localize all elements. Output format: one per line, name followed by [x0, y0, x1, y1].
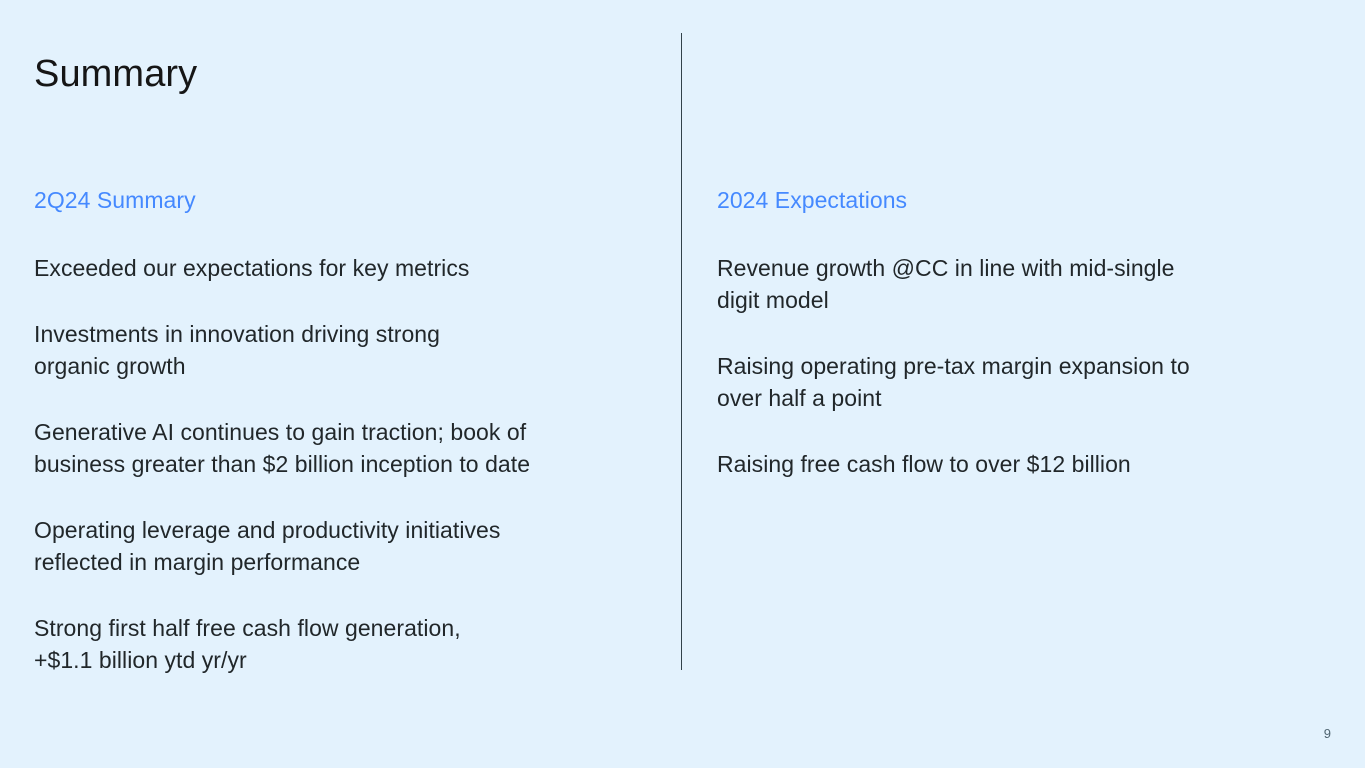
- column-divider: [681, 33, 682, 670]
- column-heading-2q24-summary: 2Q24 Summary: [34, 185, 634, 216]
- slide-canvas: Summary 2Q24 Summary Exceeded our expect…: [0, 0, 1365, 768]
- bullet-line: Strong first half free cash flow generat…: [34, 612, 634, 644]
- list-item: Operating leverage and productivity init…: [34, 514, 634, 578]
- bullet-line: organic growth: [34, 350, 634, 382]
- list-item: Investments in innovation driving strong…: [34, 318, 634, 382]
- list-item: Strong first half free cash flow generat…: [34, 612, 634, 676]
- bullet-line: Investments in innovation driving strong: [34, 318, 634, 350]
- bullet-line: Revenue growth @CC in line with mid-sing…: [717, 252, 1297, 284]
- bullet-line: Raising free cash flow to over $12 billi…: [717, 448, 1297, 480]
- page-title: Summary: [34, 51, 197, 99]
- bullet-line: Generative AI continues to gain traction…: [34, 416, 634, 448]
- list-item: Raising operating pre-tax margin expansi…: [717, 350, 1297, 414]
- list-item: Generative AI continues to gain traction…: [34, 416, 634, 480]
- summary-column-right: 2024 Expectations Revenue growth @CC in …: [717, 185, 1297, 480]
- bullet-line: over half a point: [717, 382, 1297, 414]
- bullet-line: Exceeded our expectations for key metric…: [34, 252, 634, 284]
- summary-column-left: 2Q24 Summary Exceeded our expectations f…: [34, 185, 634, 676]
- bullet-line: business greater than $2 billion incepti…: [34, 448, 634, 480]
- list-item: Exceeded our expectations for key metric…: [34, 252, 634, 284]
- column-heading-2024-expectations: 2024 Expectations: [717, 185, 1297, 216]
- bullet-line: +$1.1 billion ytd yr/yr: [34, 644, 634, 676]
- page-number: 9: [1324, 727, 1331, 740]
- list-item: Revenue growth @CC in line with mid-sing…: [717, 252, 1297, 316]
- bullet-line: digit model: [717, 284, 1297, 316]
- list-item: Raising free cash flow to over $12 billi…: [717, 448, 1297, 480]
- bullet-line: Raising operating pre-tax margin expansi…: [717, 350, 1297, 382]
- bullet-line: reflected in margin performance: [34, 546, 634, 578]
- bullet-line: Operating leverage and productivity init…: [34, 514, 634, 546]
